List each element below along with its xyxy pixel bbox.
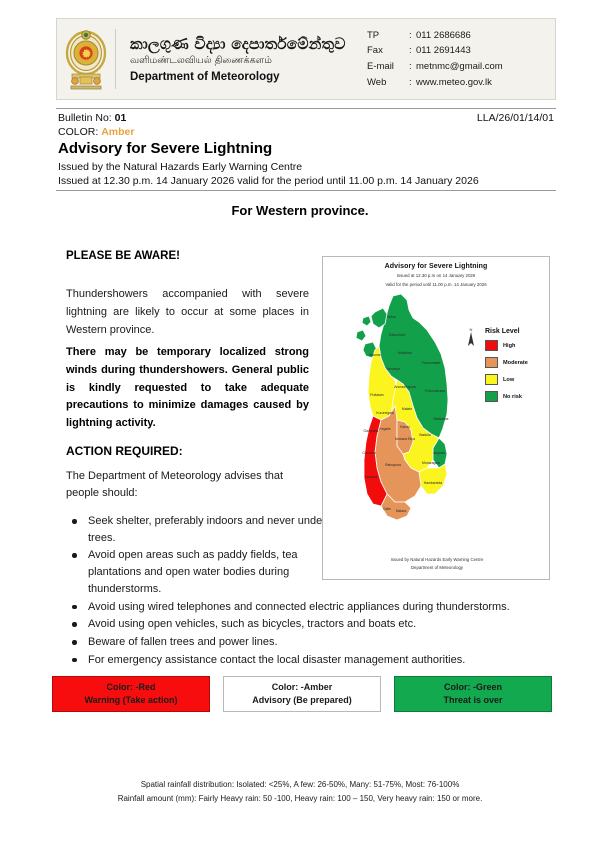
map-region-islet-1 <box>362 316 371 326</box>
legend-swatch-low <box>485 374 498 385</box>
contact-separator: : <box>409 43 416 59</box>
contact-label-tp: TP <box>367 28 409 44</box>
color-line: COLOR: Amber <box>58 126 134 138</box>
issued-at-line: Issued at 12.30 p.m. 14 January 2026 val… <box>58 175 479 187</box>
svg-text:Vavuniya: Vavuniya <box>386 367 400 371</box>
color-value: Amber <box>101 126 134 138</box>
advisory-paragraph-2: There may be temporary localized strong … <box>66 344 309 433</box>
department-name-tamil: வளிமண்டலவியல் திணைக்களம் <box>130 55 367 68</box>
bulletin-number: 01 <box>115 112 127 124</box>
department-names: කාලගුණ විද්‍යා දෙපාර්තමේන්තුව வளிமண்டலவி… <box>116 35 367 83</box>
color-banner-green: Color: -Green Threat is over <box>394 676 552 712</box>
list-item: Avoid open areas such as paddy fields, t… <box>66 547 331 597</box>
bulletin-label: Bulletin No: <box>58 112 112 124</box>
color-key-banners: Color: -Red Warning (Take action) Color:… <box>52 676 552 712</box>
issued-by-line: Issued by the Natural Hazards Early Warn… <box>58 161 302 173</box>
province-headline: For Western province. <box>0 203 600 218</box>
bulletin-row: Bulletin No: 01 LLA/26/01/14/01 <box>58 112 554 124</box>
contact-row-fax: Fax : 011 2691443 <box>367 43 549 59</box>
legend-item-high: High <box>485 340 547 351</box>
svg-text:Monaragala: Monaragala <box>422 461 440 465</box>
color-banner-amber-title: Color: -Amber <box>272 681 333 695</box>
list-item: Seek shelter, preferably indoors and nev… <box>66 513 331 546</box>
letterhead: කාලගුණ විද්‍යා දෙපාර්තමේන්තුව வளிமண்டலவி… <box>56 18 556 100</box>
contact-value-web[interactable]: www.meteo.gov.lk <box>416 75 549 91</box>
contact-label-fax: Fax <box>367 43 409 59</box>
contact-separator: : <box>409 75 416 91</box>
legend-title: Risk Level <box>485 328 547 335</box>
legend-label-high: High <box>503 343 515 349</box>
color-banner-amber: Color: -Amber Advisory (Be prepared) <box>223 676 381 712</box>
advisory-paragraph-1: Thundershowers accompanied with severe l… <box>66 286 309 339</box>
svg-text:Badulla: Badulla <box>419 433 430 437</box>
contact-value-fax: 011 2691443 <box>416 43 549 59</box>
svg-text:Puttalam: Puttalam <box>370 393 384 397</box>
department-name-sinhala: කාලගුණ විද්‍යා දෙපාර්තමේන්තුව <box>130 35 367 54</box>
header-rule-bottom <box>56 190 556 191</box>
svg-text:Hambantota: Hambantota <box>424 481 443 485</box>
contact-label-email: E-mail <box>367 59 409 75</box>
bulletin-number-group: Bulletin No: 01 <box>58 112 126 124</box>
be-aware-heading: PLEASE BE AWARE! <box>66 250 180 262</box>
color-banner-green-desc: Threat is over <box>443 694 502 708</box>
svg-text:Batticaloa: Batticaloa <box>434 417 449 421</box>
map-legend: Risk Level High Moderate Low No risk <box>485 328 547 408</box>
contact-label-web: Web <box>367 75 409 91</box>
color-label: COLOR: <box>58 126 98 138</box>
contact-value-email[interactable]: metnmc@gmail.com <box>416 59 549 75</box>
header-rule-top <box>56 108 556 109</box>
legend-item-low: Low <box>485 374 547 385</box>
contact-value-tp: 011 2686686 <box>416 28 549 44</box>
map-subtitle-valid: Valid for the period until 11.00 p.m. 14… <box>323 281 549 288</box>
list-item: Avoid using wired telephones and connect… <box>66 599 536 616</box>
map-region-islet-2 <box>356 330 366 341</box>
risk-map-panel: Advisory for Severe Lightning Issued at … <box>322 256 550 580</box>
contact-row-email: E-mail : metnmc@gmail.com <box>367 59 549 75</box>
advisory-document-page: කාලගුණ විද්‍යා දෙපාර්තමේන්තුව வளிமண்டலவி… <box>0 0 600 846</box>
legend-swatch-no-risk <box>485 391 498 402</box>
color-banner-amber-desc: Advisory (Be prepared) <box>252 694 352 708</box>
action-required-heading: ACTION REQUIRED: <box>66 444 183 458</box>
footer-line-1: Spatial rainfall distribution: Isolated:… <box>0 778 600 792</box>
svg-text:Jaffna: Jaffna <box>386 315 395 319</box>
svg-text:Ampara: Ampara <box>433 451 445 455</box>
color-banner-red-desc: Warning (Take action) <box>84 694 177 708</box>
sri-lanka-national-emblem-icon <box>63 26 109 92</box>
legend-item-moderate: Moderate <box>485 357 547 368</box>
svg-text:Anuradhapura: Anuradhapura <box>394 385 416 389</box>
department-name-english: Department of Meteorology <box>130 71 367 83</box>
svg-text:Trincomalee: Trincomalee <box>422 361 441 365</box>
svg-text:Kurunegala: Kurunegala <box>376 411 393 415</box>
svg-text:Kandy: Kandy <box>400 425 410 429</box>
svg-text:Gampaha: Gampaha <box>364 429 379 433</box>
contact-row-web: Web : www.meteo.gov.lk <box>367 75 549 91</box>
svg-text:Kegalle: Kegalle <box>379 427 390 431</box>
svg-text:Nuwara Eliya: Nuwara Eliya <box>395 437 415 441</box>
map-credit-line-2: Department of Meteorology <box>323 564 550 571</box>
color-banner-red-title: Color: -Red <box>107 681 156 695</box>
list-item: For emergency assistance contact the loc… <box>66 652 536 669</box>
map-title: Advisory for Severe Lightning <box>323 263 549 270</box>
legend-swatch-high <box>485 340 498 351</box>
legend-label-low: Low <box>503 377 514 383</box>
svg-text:Colombo: Colombo <box>362 451 376 455</box>
svg-text:Kalutara: Kalutara <box>365 475 378 479</box>
svg-text:Matara: Matara <box>396 509 407 513</box>
svg-text:Polonnaruwa: Polonnaruwa <box>425 389 445 393</box>
list-item: Beware of fallen trees and power lines. <box>66 634 536 651</box>
svg-text:Matale: Matale <box>402 407 412 411</box>
legend-item-no-risk: No risk <box>485 391 547 402</box>
legend-swatch-moderate <box>485 357 498 368</box>
svg-text:Mannar: Mannar <box>369 353 381 357</box>
north-arrow-compass-icon: N <box>463 326 479 350</box>
action-intro-text: The Department of Meteorology advises th… <box>66 468 309 502</box>
map-credit: Issued by Natural Hazards Early Warning … <box>323 556 550 571</box>
footer-line-2: Rainfall amount (mm): Fairly Heavy rain:… <box>0 792 600 806</box>
map-subtitle-issued: Issued at 12.30 p.m on 14 January 2026 <box>323 272 549 279</box>
advisory-title: Advisory for Severe Lightning <box>58 140 272 157</box>
bulletin-reference: LLA/26/01/14/01 <box>477 112 554 124</box>
footer-notes: Spatial rainfall distribution: Isolated:… <box>0 778 600 805</box>
map-credit-line-1: Issued by Natural Hazards Early Warning … <box>323 556 550 563</box>
map-body: Jaffna Kilinochchi Mannar Mullaitivu Vav… <box>323 288 550 538</box>
svg-text:Galle: Galle <box>383 507 391 511</box>
legend-label-moderate: Moderate <box>503 360 528 366</box>
svg-text:Ratnapura: Ratnapura <box>385 463 401 467</box>
contact-row-tp: TP : 011 2686686 <box>367 28 549 44</box>
svg-text:Mullaitivu: Mullaitivu <box>398 351 412 355</box>
contact-details: TP : 011 2686686 Fax : 011 2691443 E-mai… <box>367 28 555 91</box>
legend-label-no-risk: No risk <box>503 394 522 400</box>
contact-separator: : <box>409 28 416 44</box>
color-banner-red: Color: -Red Warning (Take action) <box>52 676 210 712</box>
emblem-cell <box>57 26 115 92</box>
color-banner-green-title: Color: -Green <box>444 681 502 695</box>
contact-separator: : <box>409 59 416 75</box>
compass-label: N <box>470 327 473 332</box>
svg-text:Kilinochchi: Kilinochchi <box>389 333 405 337</box>
list-item: Avoid using open vehicles, such as bicyc… <box>66 616 536 633</box>
